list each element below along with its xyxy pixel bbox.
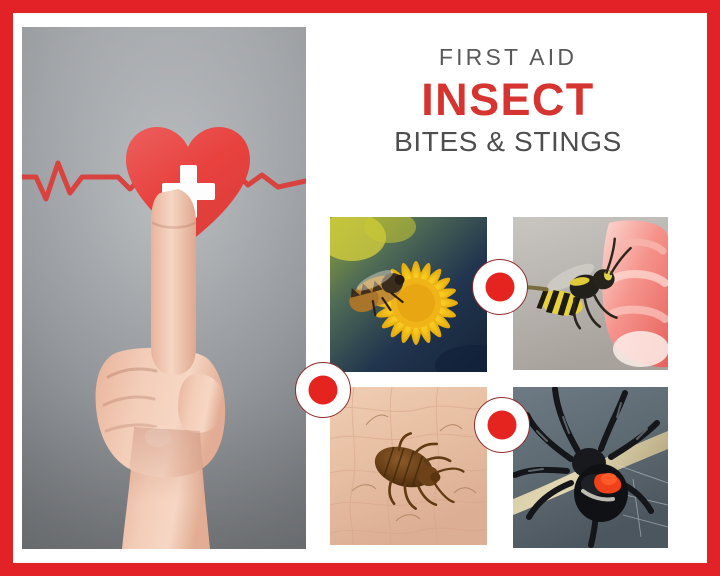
marker-inner-dot — [486, 273, 515, 302]
photo-bee-on-flower — [330, 217, 487, 372]
photo-black-widow-spider — [513, 387, 668, 548]
marker-dot-1[interactable] — [472, 259, 528, 315]
wasp-photo-graphic — [513, 217, 668, 370]
marker-dot-3[interactable] — [474, 397, 530, 453]
poster-subhead: BITES & STINGS — [320, 126, 696, 158]
first-aid-poster: FIRST AID INSECT BITES & STINGS — [0, 0, 720, 576]
bee-photo-graphic — [330, 217, 487, 372]
poster-kicker: FIRST AID — [320, 44, 696, 70]
photo-bedbug-on-skin — [330, 387, 487, 545]
photo-wasp-on-flower — [513, 217, 668, 370]
poster-headline: INSECT — [320, 76, 696, 124]
spider-photo-graphic — [513, 387, 668, 548]
bedbug-photo-graphic — [330, 387, 487, 545]
marker-inner-dot — [488, 411, 517, 440]
pointing-hand-illustration — [82, 179, 254, 549]
marker-inner-dot — [309, 376, 338, 405]
poster-title-block: FIRST AID INSECT BITES & STINGS — [320, 44, 696, 158]
hero-photo-hand-heart — [22, 27, 306, 549]
marker-dot-2[interactable] — [295, 362, 351, 418]
